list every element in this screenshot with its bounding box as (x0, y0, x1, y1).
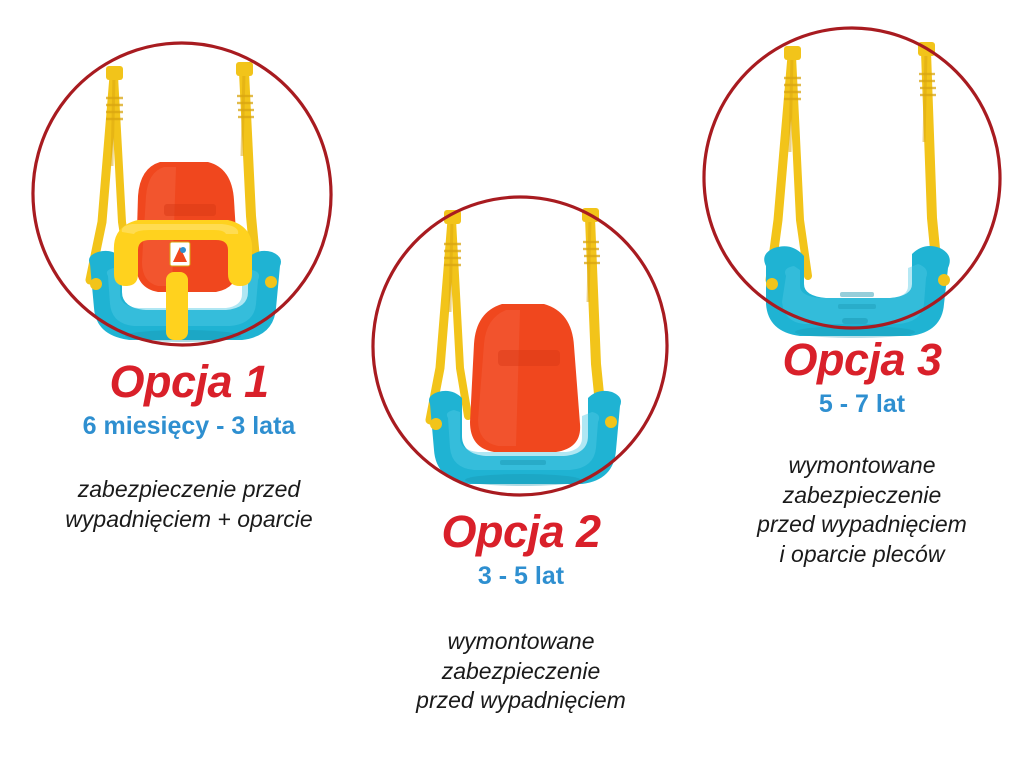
description-line: zabezpieczenie (340, 657, 702, 686)
product-photo-option-1 (26, 36, 338, 352)
product-photo-option-3 (700, 22, 1010, 340)
option-3-age: 5 - 7 lat (700, 389, 1024, 419)
description-line: zabezpieczenie przed (0, 475, 378, 504)
swing-ropes-icon (770, 42, 938, 280)
seat-part (764, 246, 950, 338)
option-3-title: Opcja 3 (700, 336, 1024, 383)
description-line: przed wypadnięciem (700, 510, 1024, 539)
description-line: przed wypadnięciem (340, 686, 702, 715)
option-2-text-block: Opcja 2 3 - 5 lat wymontowane zabezpiecz… (340, 508, 702, 716)
description-line: i oparcie pleców (700, 540, 1024, 569)
option-1-title: Opcja 1 (0, 358, 378, 405)
backrest-part (470, 304, 580, 452)
option-2-age: 3 - 5 lat (340, 561, 702, 591)
option-2-description: wymontowane zabezpieczenie przed wypadni… (340, 627, 702, 715)
description-line: zabezpieczenie (700, 481, 1024, 510)
option-1-age: 6 miesięcy - 3 lata (0, 411, 378, 441)
infographic-canvas: Opcja 1 6 miesięcy - 3 lata zabezpieczen… (0, 0, 1024, 768)
option-2-title: Opcja 2 (340, 508, 702, 555)
option-3-text-block: Opcja 3 5 - 7 lat wymontowane zabezpiecz… (700, 336, 1024, 569)
description-line: wymontowane (340, 627, 702, 656)
description-line: wymontowane (700, 451, 1024, 480)
highlight-circle (696, 20, 1007, 335)
option-1-description: zabezpieczenie przed wypadnięciem + opar… (0, 475, 378, 534)
option-3-description: wymontowane zabezpieczenie przed wypadni… (700, 451, 1024, 569)
option-1-text-block: Opcja 1 6 miesięcy - 3 lata zabezpieczen… (0, 358, 378, 534)
description-line: wypadnięciem + oparcie (0, 505, 378, 534)
product-photo-option-2 (368, 192, 676, 504)
